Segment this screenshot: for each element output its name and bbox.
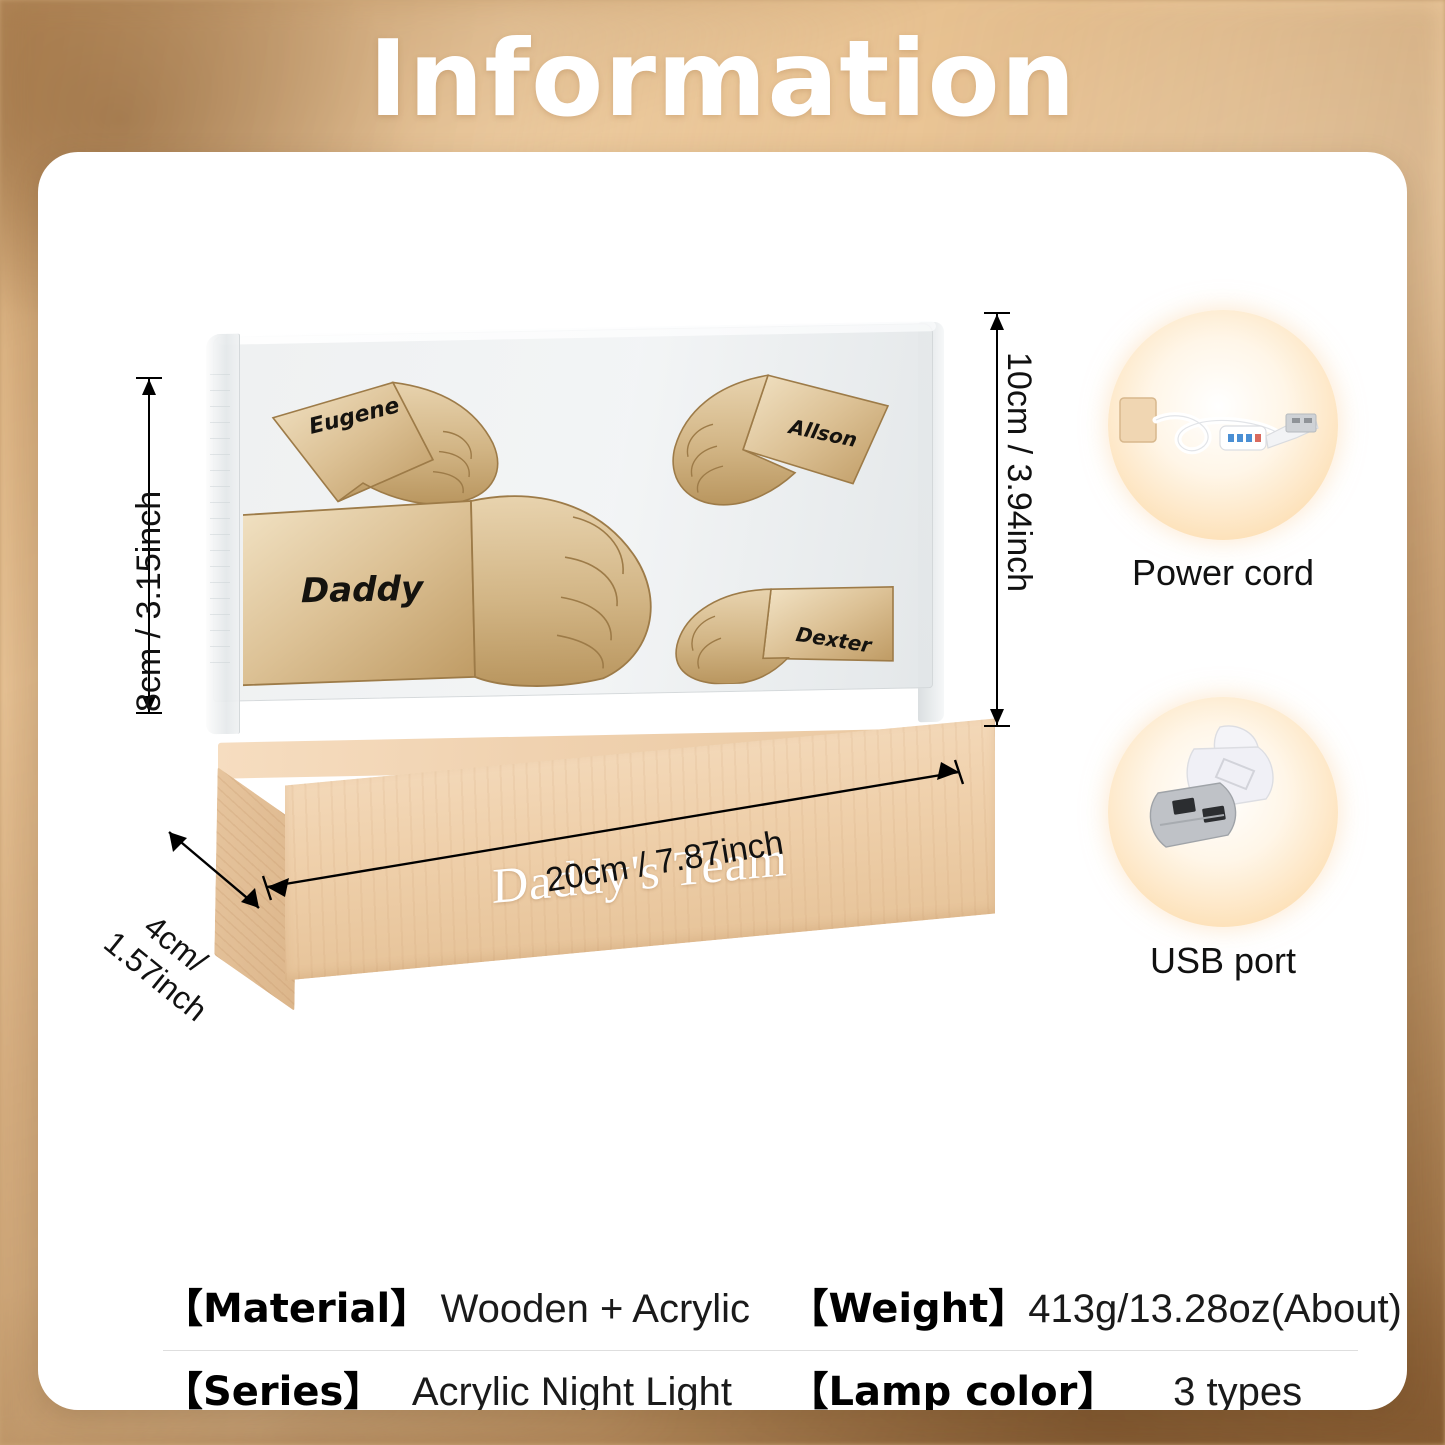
spec-cell-weight: 【Weight】 413g/13.28oz(About): [761, 1268, 1359, 1351]
usb-port-icon: [1108, 697, 1338, 927]
power-cord-circle: [1108, 310, 1338, 540]
spec-row: 【Material】 Wooden + Acrylic 【Weight】 413…: [163, 1268, 1358, 1351]
spec-key-weight: 【Weight】: [789, 1276, 1029, 1334]
spec-cell-series: 【Series】 Acrylic Night Light: [163, 1351, 761, 1410]
spec-key-material: 【Material】: [163, 1276, 430, 1334]
usb-port-label: USB port: [1073, 940, 1373, 982]
dimension-label-height-acrylic: 8cm / 3.15inch: [130, 491, 169, 712]
fist-eugene: Eugene: [273, 380, 498, 507]
fist-bump-artwork: Eugene Allson: [243, 351, 903, 694]
acrylic-left-edge: [206, 334, 240, 735]
spec-value-lamp-color: 3 types: [1117, 1370, 1358, 1410]
fist-allson: Allson: [673, 373, 888, 506]
power-cord-label: Power cord: [1073, 552, 1373, 594]
dimension-label-height-total: 10cm / 3.94inch: [999, 352, 1038, 592]
usb-port-circle: [1108, 697, 1338, 927]
spec-value-material: Wooden + Acrylic: [430, 1287, 760, 1332]
fist-daddy: Daddy: [243, 494, 651, 692]
spec-value-weight: 413g/13.28oz(About): [1028, 1287, 1402, 1332]
spec-row: 【Series】 Acrylic Night Light 【Lamp color…: [163, 1351, 1358, 1410]
spec-key-lamp-color: 【Lamp color】: [789, 1359, 1118, 1410]
spec-value-series: Acrylic Night Light: [383, 1370, 760, 1410]
spec-cell-material: 【Material】 Wooden + Acrylic: [163, 1268, 761, 1351]
fist-dexter: Dexter: [676, 587, 893, 685]
power-cord-icon: [1108, 310, 1338, 540]
specification-table: 【Material】 Wooden + Acrylic 【Weight】 413…: [163, 1268, 1358, 1410]
product-information-page: Information: [0, 0, 1445, 1445]
svg-text:Daddy: Daddy: [301, 569, 425, 611]
content-card: Eugene Allson: [38, 152, 1407, 1410]
page-title: Information: [0, 22, 1445, 138]
spec-cell-lamp-color: 【Lamp color】 3 types: [761, 1351, 1359, 1410]
spec-key-series: 【Series】: [163, 1359, 383, 1410]
